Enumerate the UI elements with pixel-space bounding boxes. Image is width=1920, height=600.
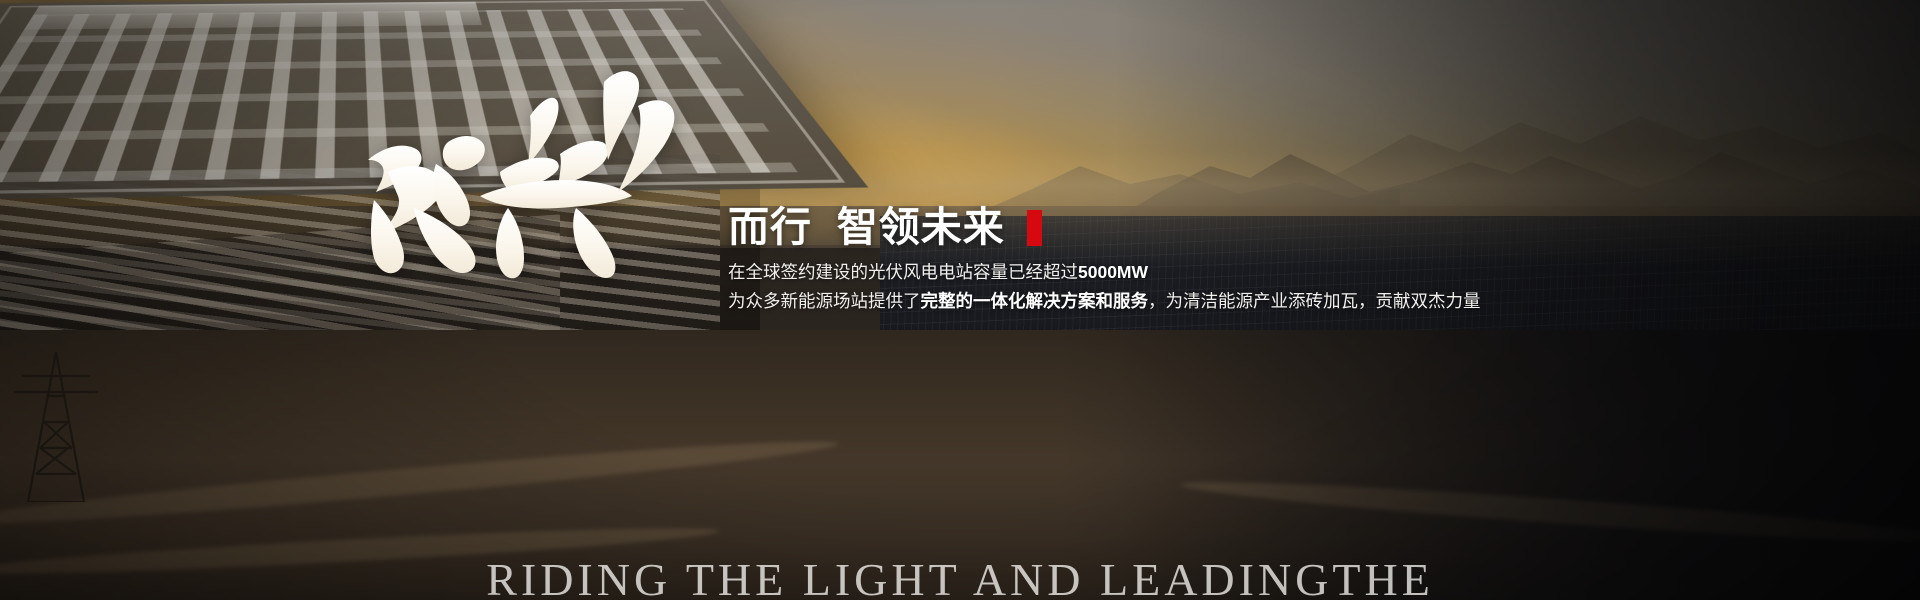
slogan-line-1: RIDING THE LIGHT AND LEADINGTHE (0, 550, 1920, 600)
english-slogan: RIDING THE LIGHT AND LEADINGTHE FUTURE W… (0, 430, 1920, 600)
subtitle-line-1: 在全球签约建设的光伏风电电站容量已经超过5000MW (728, 258, 1481, 286)
subtitle-line-2: 为众多新能源场站提供了完整的一体化解决方案和服务，为清洁能源产业添砖加瓦，贡献双… (728, 287, 1481, 315)
headline-text: 而行 智领未来 (728, 206, 1005, 249)
hero-banner: 而行 智领未来 在全球签约建设的光伏风电电站容量已经超过5000MW 为众多新能… (0, 0, 1920, 600)
subtitle-line1-capacity: 5000MW (1078, 262, 1148, 282)
calligraphy-shuangguang (352, 68, 682, 298)
headline: 而行 智领未来 (728, 206, 1481, 249)
copy-block: 而行 智领未来 在全球签约建设的光伏风电电站容量已经超过5000MW 为众多新能… (728, 206, 1481, 315)
subtitle-line2-highlight: 完整的一体化解决方案和服务 (921, 291, 1149, 311)
red-block-mark (1027, 210, 1042, 246)
subtitle-line2-prefix: 为众多新能源场站提供了 (728, 291, 921, 311)
subtitle-line2-suffix: ，为清洁能源产业添砖加瓦，贡献双杰力量 (1148, 291, 1481, 311)
subtitle-line1-prefix: 在全球签约建设的光伏风电电站容量已经超过 (728, 262, 1078, 282)
